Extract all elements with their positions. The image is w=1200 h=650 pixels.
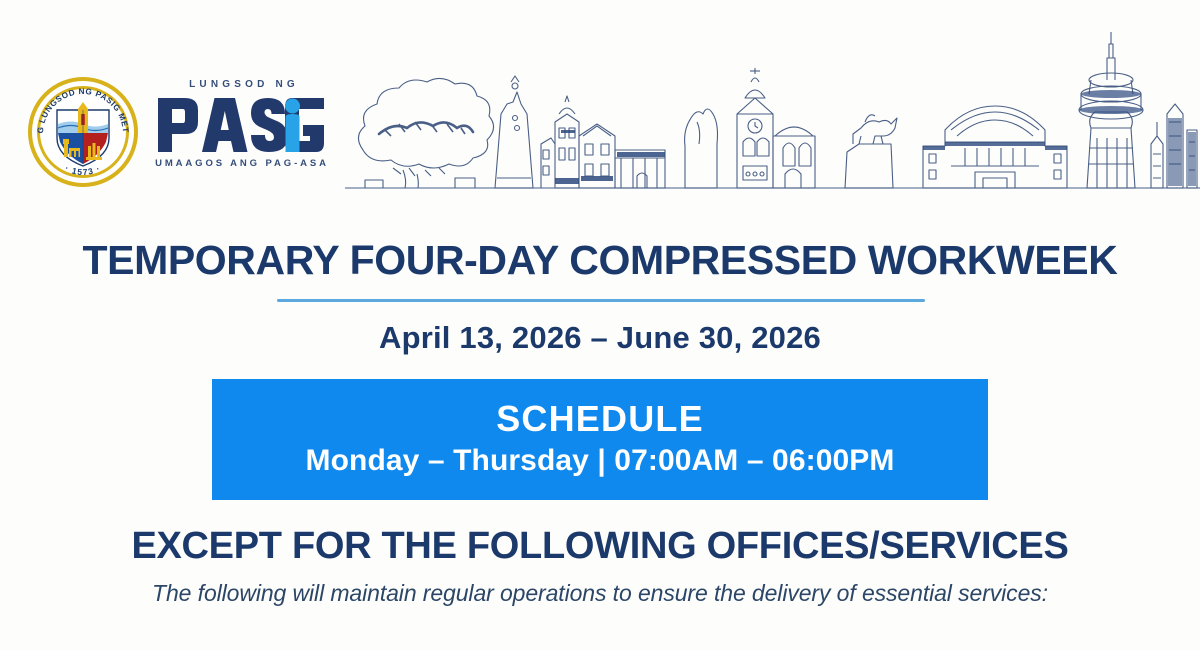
pasig-city-seal: SAGISAG NG LUNGSOD NG PASIG METRO MANILA…	[27, 76, 139, 188]
cutoff-text-row	[0, 632, 1200, 650]
page-title: TEMPORARY FOUR-DAY COMPRESSED WORKWEEK	[0, 240, 1200, 281]
schedule-heading: SCHEDULE	[496, 400, 704, 438]
pasig-wordmark	[152, 92, 332, 158]
pasig-skyline-illustration	[345, 18, 1200, 198]
header-banner: SAGISAG NG LUNGSOD NG PASIG METRO MANILA…	[0, 0, 1200, 205]
logo-top-text: LUNGSOD NG	[156, 80, 332, 90]
date-range: April 13, 2026 – June 30, 2026	[0, 319, 1200, 356]
schedule-details: Monday – Thursday | 07:00AM – 06:00PM	[306, 442, 895, 480]
except-heading: EXCEPT FOR THE FOLLOWING OFFICES/SERVICE…	[0, 527, 1200, 565]
title-divider	[277, 299, 925, 302]
schedule-banner: SCHEDULE Monday – Thursday | 07:00AM – 0…	[212, 379, 988, 500]
except-subtext: The following will maintain regular oper…	[0, 580, 1200, 608]
pasig-logo: LUNGSOD NG UMAAGO	[152, 80, 332, 192]
logo-tagline: UMAAGOS ANG PAG-ASA	[152, 159, 332, 169]
